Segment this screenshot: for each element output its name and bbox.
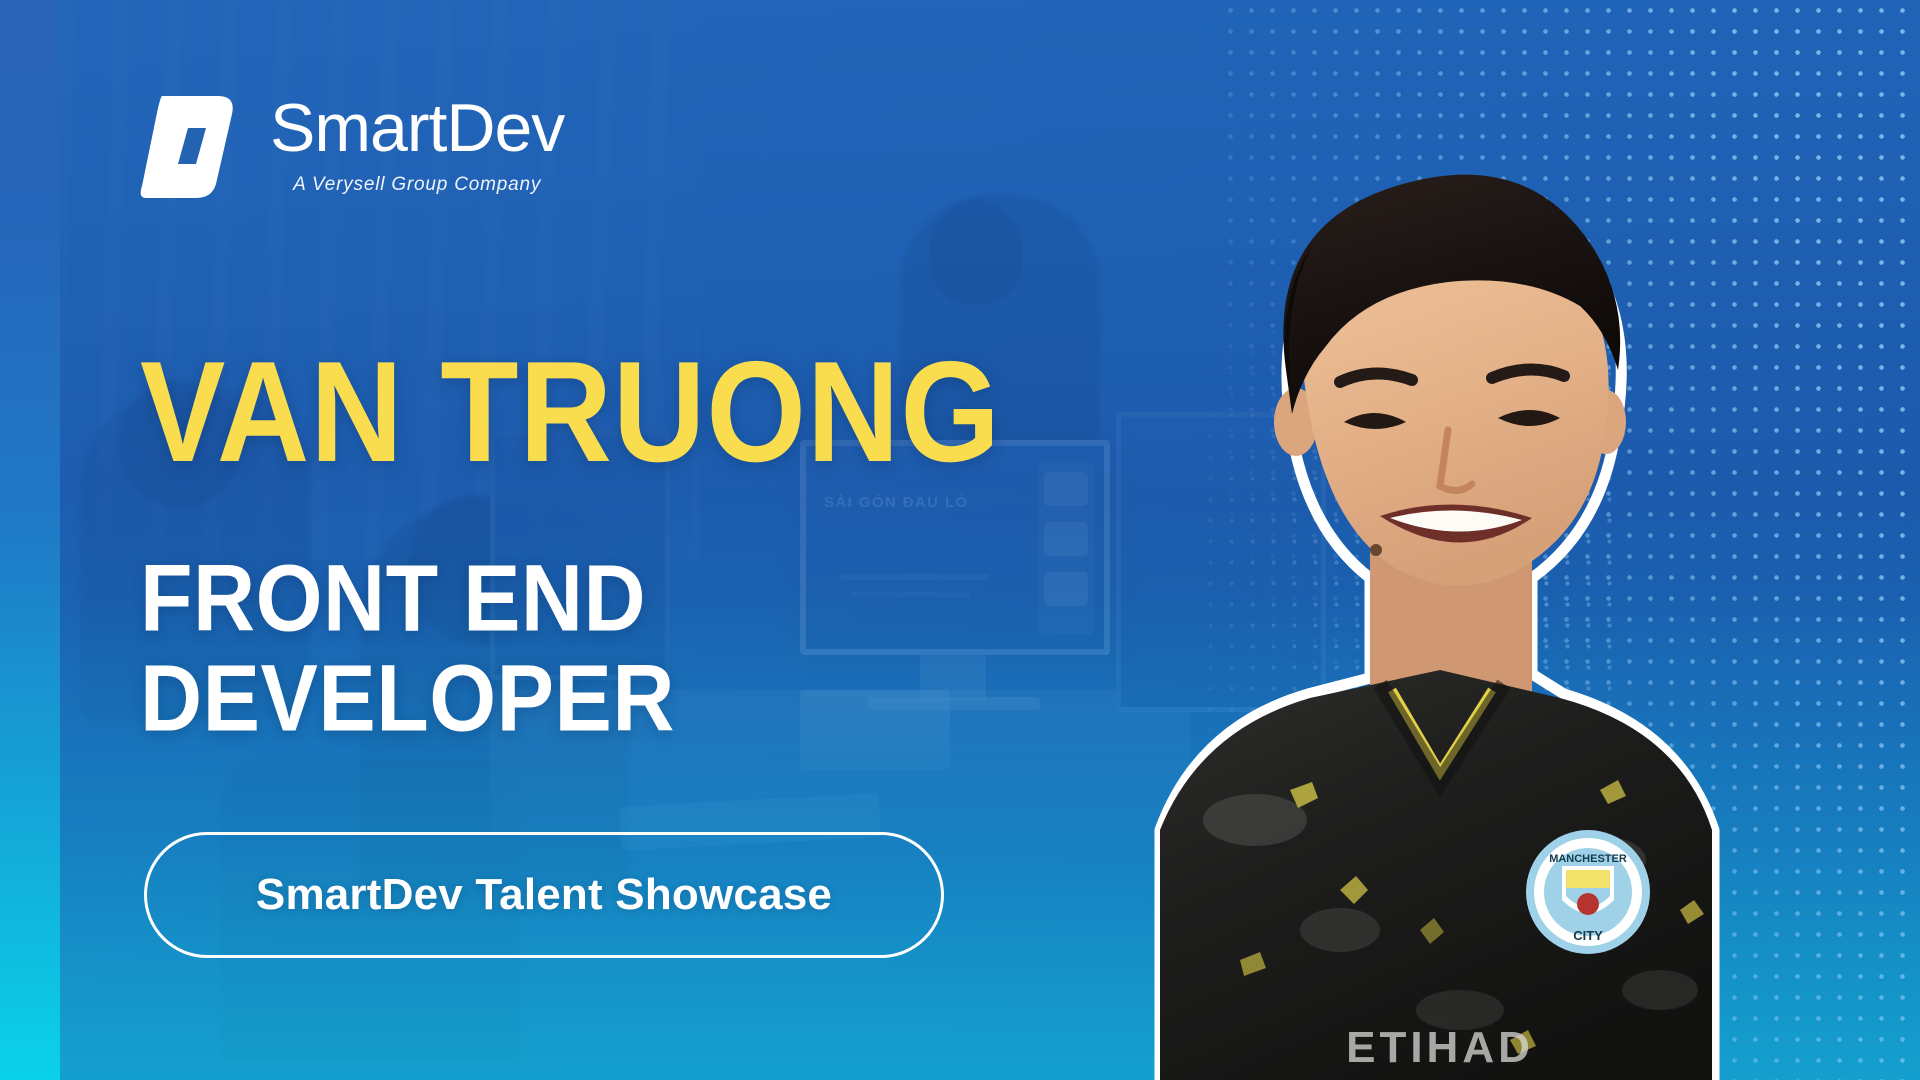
headline-block: VAN TRUONG FRONT END DEVELOPER [140, 340, 1240, 731]
presenter-role: FRONT END DEVELOPER [140, 549, 1240, 750]
talent-showcase-pill[interactable]: SmartDev Talent Showcase [144, 832, 944, 958]
smartdev-logo[interactable]: SmartDev A Verysell Group Company [140, 88, 564, 200]
logo-tagline: A Verysell Group Company [270, 174, 564, 196]
jersey-badge-text-top: MANCHESTER [1549, 853, 1627, 865]
jersey-sponsor-text: ETIHAD [1346, 1023, 1534, 1072]
talent-showcase-pill-label: SmartDev Talent Showcase [256, 870, 832, 920]
role-line-2: DEVELOPER [140, 649, 1240, 749]
logo-wordmark: SmartDev [270, 94, 564, 162]
jersey-badge-text-bottom: CITY [1573, 928, 1603, 943]
presenter-name: VAN TRUONG [140, 340, 1240, 486]
talent-showcase-title-card: SÀI GÒN ĐAU LÒ [0, 0, 1920, 1080]
role-line-1: FRONT END [140, 549, 1240, 649]
smartdev-d-logo-icon [140, 88, 244, 200]
left-gradient-strip [0, 0, 60, 1080]
